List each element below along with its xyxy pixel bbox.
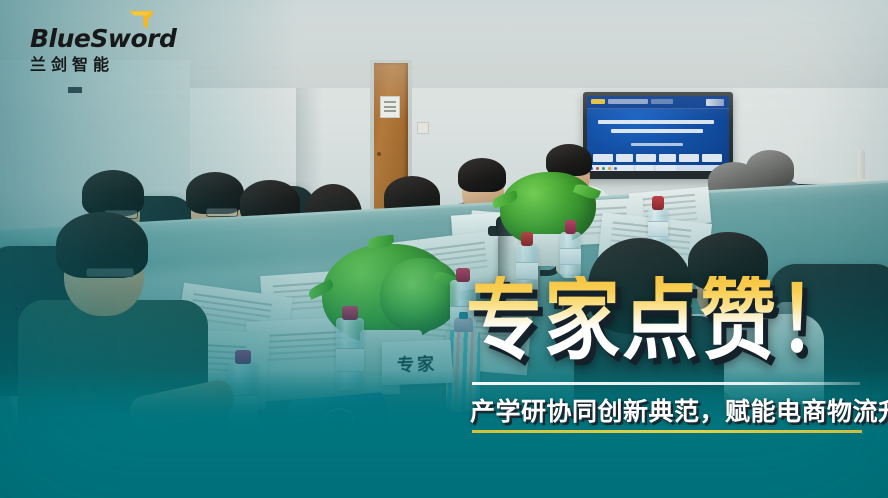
slide-chip bbox=[659, 154, 676, 162]
corner-arrow-icon bbox=[128, 10, 154, 30]
brand-name-cn: 兰剑智能 bbox=[30, 57, 176, 73]
slide-tag bbox=[591, 99, 605, 104]
slide-tag bbox=[608, 99, 648, 104]
expert-name-card: 专家 bbox=[382, 340, 454, 385]
light-switch bbox=[417, 122, 429, 134]
slide-title-line bbox=[611, 129, 703, 133]
slide-chip bbox=[593, 154, 613, 162]
slide-header-bar bbox=[587, 96, 729, 109]
person-hair bbox=[458, 158, 506, 192]
headline-rule-top bbox=[472, 382, 860, 385]
slide-title-line bbox=[598, 120, 714, 124]
brand-name-en: BlueSword bbox=[30, 26, 176, 51]
glasses-icon bbox=[86, 268, 134, 277]
bottle-cap bbox=[565, 220, 577, 234]
slide-chip bbox=[679, 154, 699, 162]
wet-wipes-pack bbox=[288, 392, 388, 446]
bottle-label bbox=[336, 348, 364, 372]
door-sign bbox=[380, 96, 400, 118]
bottle-cap bbox=[342, 306, 358, 320]
person-torso bbox=[18, 300, 208, 450]
bottle-label bbox=[560, 248, 581, 265]
presentation-screen bbox=[583, 92, 733, 179]
glasses-icon bbox=[206, 208, 238, 217]
bottle-label bbox=[648, 221, 668, 237]
slide-chip bbox=[636, 154, 656, 162]
headline-block: 专家点赞！ 产学研协同创新典范，赋能电商物流升级 bbox=[466, 276, 878, 350]
bottle-cap bbox=[521, 232, 533, 246]
expert-name-card-label: 专家 bbox=[397, 349, 438, 376]
screen-stand bbox=[68, 87, 82, 93]
news-banner: 专家 bbox=[0, 0, 888, 498]
water-bottle bbox=[336, 306, 364, 390]
door-knob-icon bbox=[377, 152, 381, 156]
headline-rule-bottom bbox=[472, 430, 862, 433]
slide-content bbox=[587, 96, 729, 171]
bottle-cap bbox=[652, 196, 663, 210]
slide-tag bbox=[651, 99, 673, 104]
brand-logo: BlueSword 兰剑智能 bbox=[30, 26, 176, 73]
slide-taskbar bbox=[587, 165, 729, 171]
slide-chip bbox=[702, 154, 722, 162]
slide-logo-icon bbox=[706, 99, 724, 106]
headline-main: 专家点赞！ bbox=[466, 276, 878, 364]
headline-subtitle: 产学研协同创新典范，赋能电商物流升级 bbox=[470, 392, 888, 428]
bottle-cap bbox=[235, 350, 252, 364]
slide-chip bbox=[616, 154, 633, 162]
slide-subtitle-line bbox=[631, 143, 683, 146]
